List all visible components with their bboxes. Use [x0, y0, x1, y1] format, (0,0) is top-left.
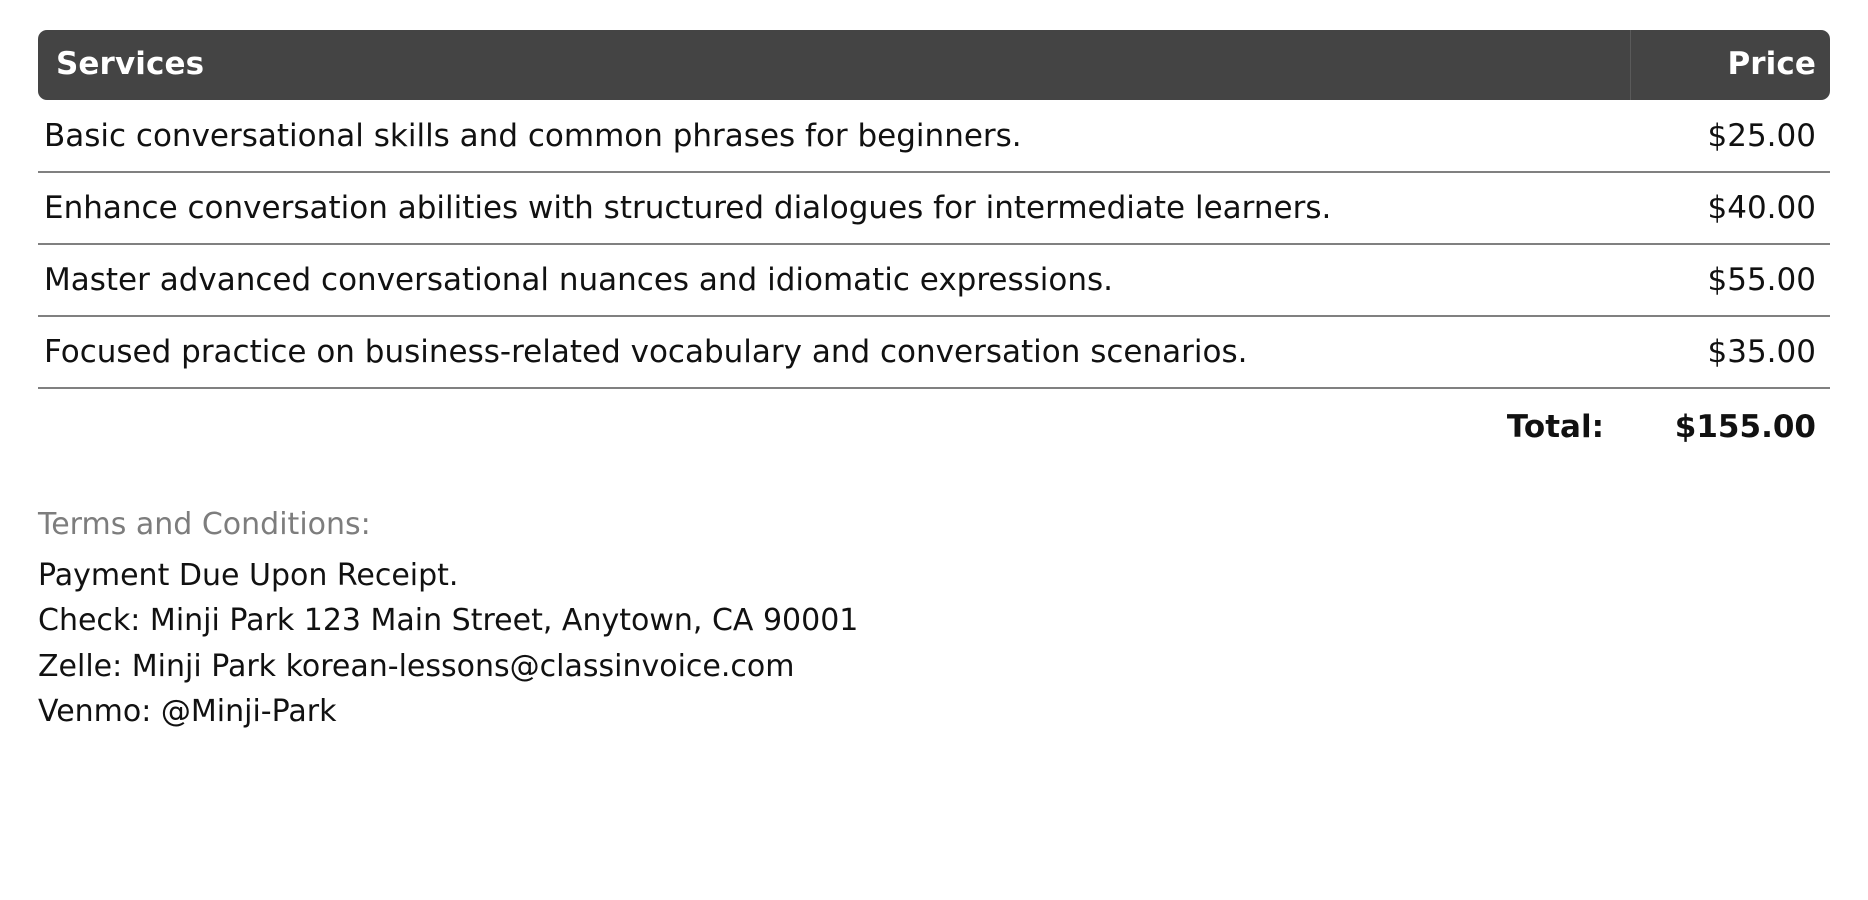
column-header-services: Services: [38, 30, 1630, 100]
service-price: $40.00: [1630, 172, 1830, 244]
services-price-table: Services Price Basic conversational skil…: [38, 30, 1830, 461]
service-price: $55.00: [1630, 244, 1830, 316]
service-description: Master advanced conversational nuances a…: [38, 244, 1630, 316]
total-amount: $155.00: [1630, 388, 1830, 461]
table-row: Master advanced conversational nuances a…: [38, 244, 1830, 316]
terms-line-payment-due: Payment Due Upon Receipt.: [38, 553, 1830, 599]
table-row: Basic conversational skills and common p…: [38, 100, 1830, 172]
terms-line-zelle: Zelle: Minji Park korean-lessons@classin…: [38, 644, 1830, 690]
table-row: Enhance conversation abilities with stru…: [38, 172, 1830, 244]
total-label: Total:: [38, 388, 1630, 461]
table-row: Focused practice on business-related voc…: [38, 316, 1830, 388]
terms-line-check: Check: Minji Park 123 Main Street, Anyto…: [38, 598, 1830, 644]
service-description: Enhance conversation abilities with stru…: [38, 172, 1630, 244]
invoice-document: Services Price Basic conversational skil…: [0, 30, 1868, 900]
table-body: Basic conversational skills and common p…: [38, 100, 1830, 461]
service-price: $25.00: [1630, 100, 1830, 172]
terms-and-conditions-section: Terms and Conditions: Payment Due Upon R…: [38, 503, 1830, 735]
table-header-row: Services Price: [38, 30, 1830, 100]
service-description: Basic conversational skills and common p…: [38, 100, 1630, 172]
service-description: Focused practice on business-related voc…: [38, 316, 1630, 388]
column-header-price: Price: [1630, 30, 1830, 100]
terms-heading: Terms and Conditions:: [38, 503, 1830, 547]
terms-line-venmo: Venmo: @Minji-Park: [38, 689, 1830, 735]
total-row: Total: $155.00: [38, 388, 1830, 461]
service-price: $35.00: [1630, 316, 1830, 388]
table-header: Services Price: [38, 30, 1830, 100]
